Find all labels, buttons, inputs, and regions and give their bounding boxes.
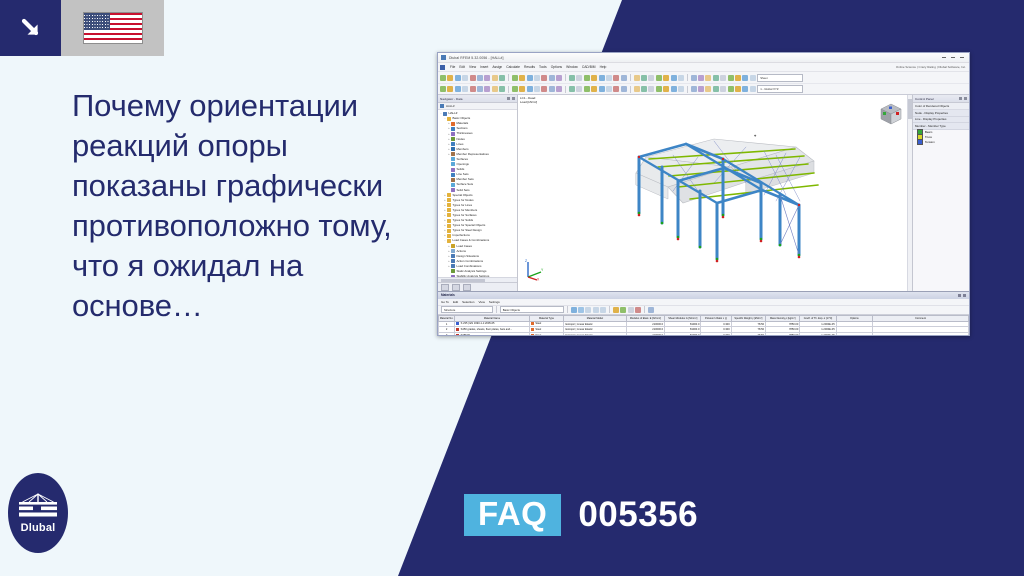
tree-item-icon <box>451 269 455 273</box>
toolbar-button-34-icon[interactable] <box>678 75 684 81</box>
table-toolbar[interactable]: Structure Basic Objects <box>438 306 969 315</box>
dlubal-logo-text: Dlubal <box>21 522 56 534</box>
tree-item-label: Member Sets <box>457 178 474 181</box>
menu-item-results[interactable]: Results <box>524 65 535 69</box>
table-cell-model[interactable]: Isotropic | Linear Elastic <box>564 332 627 336</box>
toolbar-button-38-icon[interactable] <box>705 75 711 81</box>
structure-filter-select[interactable]: Structure <box>441 306 493 314</box>
cell-text: S 235 | EN 1993-1-1:2005-05 <box>461 323 495 326</box>
toolbar-button-22-icon[interactable] <box>591 75 597 81</box>
tree-item-icon <box>451 157 455 161</box>
export-icon[interactable] <box>613 307 619 313</box>
tree-item-icon <box>447 239 451 243</box>
menu-item-edit[interactable]: Edit <box>459 65 465 69</box>
toolbar-button-30-icon[interactable] <box>648 86 654 92</box>
table-cell-G[interactable]: 81000.0 <box>665 332 701 336</box>
toolbar-separator <box>687 86 688 93</box>
cell-text: S355JR <box>461 334 470 336</box>
toolbar-button-13-icon[interactable] <box>527 86 533 92</box>
toolbar-button-28-icon[interactable] <box>634 86 640 92</box>
window-controls[interactable] <box>942 57 966 58</box>
toolbar-button-17-icon[interactable] <box>556 75 562 81</box>
settings-icon[interactable] <box>648 307 654 313</box>
tree-item-icon <box>447 117 451 121</box>
legend-label: Tension <box>925 140 935 144</box>
cell-text: S450 grades, sheets, floor plates, bars … <box>461 328 513 331</box>
toolbar-button-26-icon[interactable] <box>621 75 627 81</box>
navigator-header: Navigator - Data <box>438 95 517 103</box>
toolbar-button-22-icon[interactable] <box>591 86 597 92</box>
tree-item-label: Types for Lines <box>453 204 473 207</box>
legend-color-swatch <box>917 139 923 145</box>
tree-item-icon <box>447 224 451 228</box>
tree-item-label: Surface Sets <box>457 183 474 186</box>
tree-item-icon <box>451 173 455 177</box>
dlubal-logo: Dlubal <box>8 473 68 553</box>
menu-item-tools[interactable]: Tools <box>539 65 547 69</box>
toolbar-combo[interactable]: Sheet <box>757 74 803 82</box>
menu-item-options[interactable]: Options <box>551 65 562 69</box>
legend-label: Truss <box>925 135 932 139</box>
toolbar-combo[interactable]: 1 - Global XYZ <box>757 85 803 93</box>
toolbar-button-37-icon[interactable] <box>698 86 704 92</box>
tree-item-label: Types for Nodes <box>453 199 474 202</box>
tree-item-icon <box>451 142 455 146</box>
toolbar-button-30-icon[interactable] <box>648 75 654 81</box>
faq-number: 005356 <box>578 495 698 535</box>
toolbar-button-15-icon[interactable] <box>541 75 547 81</box>
toolbar-button-11-icon[interactable] <box>512 86 518 92</box>
tree-item-icon <box>451 188 455 192</box>
table-body[interactable]: 1S 235 | EN 1993-1-1:2005-05SteelIsotrop… <box>439 321 969 336</box>
tree-item-label: Surfaces <box>457 158 468 161</box>
menu-bar[interactable]: FileEditViewInsertAssignCalculateResults… <box>438 63 969 72</box>
toolbar-button-25-icon[interactable] <box>613 86 619 92</box>
tree-item-icon <box>451 162 455 166</box>
cell-text: Steel <box>535 328 541 331</box>
menu-item-cad-bim[interactable]: CAD/BIM <box>582 65 596 69</box>
tree-item-icon <box>447 203 451 207</box>
table-menu-view[interactable]: View <box>478 300 484 304</box>
tree-item-icon <box>443 112 447 116</box>
tree-item-label: Types for Special Objects <box>453 224 486 227</box>
toolbar-button-25-icon[interactable] <box>613 75 619 81</box>
tree-item-label: Static Analysis Settings <box>457 270 487 273</box>
materials-table[interactable]: Material No.Material NameMaterial TypeMa… <box>438 315 969 337</box>
table-view-icon[interactable] <box>578 307 584 313</box>
tree-item-icon <box>451 168 455 172</box>
toolbar-button-39-icon[interactable] <box>713 75 719 81</box>
toolbar-button-9-icon[interactable] <box>499 86 505 92</box>
tree-item-icon <box>451 147 455 151</box>
flag-graphic <box>83 12 143 44</box>
tree-item-label: Solid Sets <box>457 189 470 192</box>
toolbar-button-6-icon[interactable] <box>477 86 483 92</box>
toolbar-button-23-icon[interactable] <box>599 86 605 92</box>
toolbar-button-36-icon[interactable] <box>691 75 697 81</box>
toolbar-button-1-icon[interactable] <box>440 75 446 81</box>
model-viewport[interactable]: LC1 - Dead Load [kN/m²] <box>518 95 912 291</box>
toolbar-button-41-icon[interactable] <box>728 75 734 81</box>
tree-item-label: Solids <box>457 168 465 171</box>
toolbar-button-7-icon[interactable] <box>484 75 490 81</box>
toolbar-button-42-icon[interactable] <box>735 75 741 81</box>
toolbar-button-14-icon[interactable] <box>534 86 540 92</box>
toolbar-button-4-icon[interactable] <box>462 75 468 81</box>
tree-item-icon <box>451 254 455 258</box>
toolbar-button-8-icon[interactable] <box>492 75 498 81</box>
toolbar-button-17-icon[interactable] <box>556 86 562 92</box>
sort-icon[interactable] <box>593 307 599 313</box>
tree-item-label: Types for Surfaces <box>453 214 477 217</box>
navigator-model-tab[interactable]: HALL# <box>438 103 517 110</box>
control-panel-legend: BeamTrussTension <box>913 130 969 145</box>
toolbar-button-29-icon[interactable] <box>641 75 647 81</box>
menu-item-view[interactable]: View <box>469 65 476 69</box>
tree-item-icon <box>447 219 451 223</box>
tree-item-label: Nodes <box>457 138 465 141</box>
tree-item-label: Load Cases & Combinations <box>453 239 490 242</box>
toolbar-button-4-icon[interactable] <box>462 86 468 92</box>
table-menu-edit[interactable]: Edit <box>453 300 458 304</box>
tree-item-label: Members <box>457 148 469 151</box>
steel-hall-model-graphic <box>518 95 912 291</box>
tree-item-icon <box>451 137 455 141</box>
close-icon[interactable] <box>512 97 515 100</box>
language-header <box>0 0 164 56</box>
toolbar-button-23-icon[interactable] <box>599 75 605 81</box>
toolbar-button-40-icon[interactable] <box>720 75 726 81</box>
toolbar-button-12-icon[interactable] <box>519 86 525 92</box>
app-titlebar: Dlubal RFEM 5.32.0056 - [HALL#] <box>438 53 969 63</box>
toolbar-button-44-icon[interactable] <box>750 75 756 81</box>
toolbar-button-3-icon[interactable] <box>455 86 461 92</box>
toolbar-button-36-icon[interactable] <box>691 86 697 92</box>
navigator-tree[interactable]: -HALL#-Basic Objects+Materials+Sections+… <box>438 110 517 277</box>
navigator-title: Navigator - Data <box>440 97 463 101</box>
toolbar-button-2-icon[interactable] <box>447 86 453 92</box>
table-menu-go-to[interactable]: Go To <box>441 300 449 304</box>
toolbar-button-41-icon[interactable] <box>728 86 734 92</box>
toolbar-button-43-icon[interactable] <box>742 86 748 92</box>
tree-item-label: Openings <box>457 163 469 166</box>
tree-item-icon <box>451 259 455 263</box>
arrow-down-right-icon <box>0 0 61 56</box>
table-cell-type[interactable]: Steel <box>529 332 563 336</box>
toolbar-button-5-icon[interactable] <box>470 86 476 92</box>
grid-icon[interactable] <box>571 307 577 313</box>
pin-icon[interactable] <box>958 294 961 297</box>
tree-item-icon <box>447 229 451 233</box>
cell-color-chip <box>456 322 459 325</box>
svg-text:X: X <box>537 278 540 282</box>
toolbar-separator <box>508 74 509 81</box>
table-panel: Materials Go ToEditSelectionViewSettings… <box>438 291 969 336</box>
app-title: Dlubal RFEM 5.32.0056 - [HALL#] <box>449 56 504 60</box>
table-cell-options[interactable] <box>836 332 872 336</box>
table-cell-rho[interactable]: 7850.00 <box>766 332 800 336</box>
pin-icon[interactable] <box>959 97 962 100</box>
menu-item-file[interactable]: File <box>450 65 455 69</box>
page-title: Почему ориентации реакций опоры показаны… <box>72 86 424 326</box>
tree-item-label: Action Combinations <box>457 260 484 263</box>
table-cell-no[interactable]: 3 <box>439 332 455 336</box>
close-icon[interactable] <box>964 97 967 100</box>
rfem-application-screenshot: Dlubal RFEM 5.32.0056 - [HALL#] FileEdit… <box>437 52 970 336</box>
control-panel-pin-controls[interactable] <box>959 97 967 100</box>
control-panel-title: Control Panel <box>915 97 934 101</box>
tree-item-label: Design Situations <box>457 255 480 258</box>
toolbar-button-13-icon[interactable] <box>527 75 533 81</box>
tree-item-label: Load Cases <box>457 245 472 248</box>
toolbar-button-31-icon[interactable] <box>656 86 662 92</box>
tree-item-icon <box>451 249 455 253</box>
toolbar-button-29-icon[interactable] <box>641 86 647 92</box>
tree-item-label: Sections <box>457 127 468 130</box>
secondary-toolbar[interactable]: 1 - Global XYZ <box>438 84 969 95</box>
tree-item-label: Lines <box>457 143 464 146</box>
toolbar-button-8-icon[interactable] <box>492 86 498 92</box>
viewport-vscrollbar[interactable] <box>907 95 912 291</box>
cell-color-chip <box>531 334 534 336</box>
toolbar-separator <box>630 86 631 93</box>
close-icon[interactable] <box>960 57 964 58</box>
slide-canvas: Почему ориентации реакций опоры показаны… <box>0 0 1024 576</box>
tree-item-label: Special Objects <box>453 194 473 197</box>
control-panel-section[interactable]: Line - Display Properties <box>913 117 969 124</box>
tree-item-label: Materials <box>457 122 469 125</box>
tree-item-label: Types for Solids <box>453 219 474 222</box>
tree-item-icon <box>451 178 455 182</box>
tree-item-icon <box>451 244 455 248</box>
toolbar-button-24-icon[interactable] <box>606 75 612 81</box>
cell-color-chip <box>456 334 459 336</box>
table-cell-alpha[interactable]: 1.2000E-05 <box>800 332 836 336</box>
tree-item-label: Load Combinations <box>457 265 482 268</box>
results-navigator-icon[interactable] <box>463 284 471 291</box>
toolbar-button-16-icon[interactable] <box>549 86 555 92</box>
tree-item-icon <box>447 208 451 212</box>
tree-item-label: Thicknesses <box>457 132 473 135</box>
table-menu-selection[interactable]: Selection <box>462 300 474 304</box>
toolbar-button-12-icon[interactable] <box>519 75 525 81</box>
menu-item-window[interactable]: Window <box>566 65 578 69</box>
cell-color-chip <box>456 328 459 331</box>
data-navigator-icon[interactable] <box>441 284 449 291</box>
main-toolbar[interactable]: Sheet <box>438 72 969 84</box>
table-cell-nu[interactable]: 0.300 <box>701 332 731 336</box>
toolbar-button-38-icon[interactable] <box>705 86 711 92</box>
delete-icon[interactable] <box>635 307 641 313</box>
toolbar-button-37-icon[interactable] <box>698 75 704 81</box>
tree-item-label: Line Sets <box>457 173 469 176</box>
toolbar-separator <box>565 74 566 81</box>
svg-text:Z: Z <box>525 259 527 263</box>
menu-logo-icon <box>440 65 445 70</box>
tree-item-icon <box>451 122 455 126</box>
toolbar-separator <box>565 86 566 93</box>
tree-item-icon <box>451 152 455 156</box>
close-icon[interactable] <box>963 294 966 297</box>
toolbar-button-31-icon[interactable] <box>656 75 662 81</box>
tree-item-label: HALL# <box>449 112 458 115</box>
tree-item-icon <box>447 198 451 202</box>
toolbar-separator <box>630 74 631 81</box>
tree-item-icon <box>451 183 455 187</box>
table-title: Materials <box>441 293 455 297</box>
table-cell-E[interactable]: 210000.0 <box>626 332 664 336</box>
faq-badge: FAQ <box>464 494 561 536</box>
control-panel: Control Panel Color of Rendered Objects … <box>912 95 969 291</box>
toolbar-button-9-icon[interactable] <box>499 75 505 81</box>
tree-item-icon <box>451 264 455 268</box>
display-navigator-icon[interactable] <box>452 284 460 291</box>
columns-icon[interactable] <box>600 307 606 313</box>
toolbar-button-32-icon[interactable] <box>663 86 669 92</box>
print-icon[interactable] <box>628 307 634 313</box>
toolbar-button-15-icon[interactable] <box>541 86 547 92</box>
toolbar-button-26-icon[interactable] <box>621 86 627 92</box>
table-menu-settings[interactable]: Settings <box>489 300 500 304</box>
toolbar-button-28-icon[interactable] <box>634 75 640 81</box>
toolbar-button-42-icon[interactable] <box>735 86 741 92</box>
toolbar-button-21-icon[interactable] <box>584 75 590 81</box>
toolbar-button-40-icon[interactable] <box>720 86 726 92</box>
cell-text: Steel <box>535 334 541 336</box>
tree-item-icon <box>447 234 451 238</box>
menu-item-assign[interactable]: Assign <box>492 65 502 69</box>
toolbar-button-33-icon[interactable] <box>671 75 677 81</box>
coordinate-axes-icon: Z Y X <box>524 259 546 281</box>
toolbar-button-2-icon[interactable] <box>447 75 453 81</box>
tree-item-icon <box>451 127 455 131</box>
toolbar-button-3-icon[interactable] <box>455 75 461 81</box>
scroll-thumb[interactable] <box>908 99 912 119</box>
toolbar-button-20-icon[interactable] <box>576 75 582 81</box>
table-cell-gamma[interactable]: 78.50 <box>731 332 765 336</box>
table-menu-bar[interactable]: Go ToEditSelectionViewSettings <box>438 299 969 306</box>
tree-item-label: Member Representatives <box>457 153 489 156</box>
toolbar-button-43-icon[interactable] <box>742 75 748 81</box>
object-filter-select[interactable]: Basic Objects <box>500 306 564 314</box>
toolbar-button-1-icon[interactable] <box>440 86 446 92</box>
control-panel-tab[interactable]: Color of Rendered Objects <box>913 103 969 110</box>
app-icon <box>441 55 446 60</box>
toolbar-button-24-icon[interactable] <box>606 86 612 92</box>
toolbar-button-7-icon[interactable] <box>484 86 490 92</box>
navigator-pin-controls[interactable] <box>507 97 515 100</box>
faq-identifier: FAQ 005356 <box>464 494 698 536</box>
pointer-cursor-icon: ⌖ <box>754 133 756 138</box>
toolbar-button-32-icon[interactable] <box>663 75 669 81</box>
cell-color-chip <box>531 328 534 331</box>
toolbar-button-19-icon[interactable] <box>569 75 575 81</box>
tree-item-label: Types for Steel Design <box>453 229 482 232</box>
cell-text: Steel <box>535 323 541 326</box>
navigator-footer-tabs[interactable] <box>438 282 517 291</box>
toolbar-separator <box>508 86 509 93</box>
control-panel-section[interactable]: Node - Display Properties <box>913 110 969 117</box>
control-panel-header: Control Panel <box>913 95 969 103</box>
menu-item-help[interactable]: Help <box>600 65 607 69</box>
tree-item-icon <box>447 213 451 217</box>
svg-text:Y: Y <box>541 268 544 272</box>
toolbar-button-11-icon[interactable] <box>512 75 518 81</box>
app-body: Navigator - Data HALL# -HALL#-Basic Obje… <box>438 95 969 291</box>
navigator-panel: Navigator - Data HALL# -HALL#-Basic Obje… <box>438 95 518 291</box>
table-row[interactable]: 3S355JRSteelIsotropic | Linear Elastic21… <box>439 332 969 336</box>
toolbar-button-44-icon[interactable] <box>750 86 756 92</box>
toolbar-button-14-icon[interactable] <box>534 75 540 81</box>
minimize-icon[interactable] <box>942 57 946 58</box>
table-pin-controls[interactable] <box>958 294 966 297</box>
tree-item-icon <box>451 132 455 136</box>
tree-item-icon <box>447 193 451 197</box>
tree-item-label: Basic Objects <box>453 117 471 120</box>
toolbar-button-16-icon[interactable] <box>549 75 555 81</box>
toolbar-button-34-icon[interactable] <box>678 86 684 92</box>
menu-bar-right-text: Online Science | Crazy Rating | Dlubal S… <box>896 65 966 69</box>
toolbar-button-39-icon[interactable] <box>713 86 719 92</box>
model-icon <box>440 104 444 108</box>
dlubal-bridge-icon <box>18 493 58 519</box>
pin-icon[interactable] <box>507 97 510 100</box>
toolbar-button-20-icon[interactable] <box>576 86 582 92</box>
toolbar-button-6-icon[interactable] <box>477 75 483 81</box>
import-icon[interactable] <box>620 307 626 313</box>
us-flag-icon <box>61 0 164 56</box>
tree-item-label: Actions <box>457 250 466 253</box>
toolbar-button-21-icon[interactable] <box>584 86 590 92</box>
control-panel-sections[interactable]: Node - Display PropertiesLine - Display … <box>913 110 969 130</box>
legend-label: Beam <box>925 130 932 134</box>
navigator-model-label: HALL# <box>446 104 455 108</box>
tree-item-label: Imperfections <box>453 234 470 237</box>
maximize-icon[interactable] <box>951 57 955 58</box>
filter-icon[interactable] <box>585 307 591 313</box>
menu-item-insert[interactable]: Insert <box>480 65 488 69</box>
view-cube-icon[interactable] <box>877 101 905 127</box>
toolbar-button-5-icon[interactable] <box>470 75 476 81</box>
legend-item: Tension <box>913 140 969 145</box>
cell-color-chip <box>531 322 534 325</box>
tree-item-label: Types for Members <box>453 209 478 212</box>
table-cell-name[interactable]: S355JR <box>455 332 530 336</box>
toolbar-button-19-icon[interactable] <box>569 86 575 92</box>
table-cell-comment[interactable] <box>872 332 968 336</box>
menu-item-calculate[interactable]: Calculate <box>506 65 520 69</box>
toolbar-separator <box>687 74 688 81</box>
toolbar-button-33-icon[interactable] <box>671 86 677 92</box>
